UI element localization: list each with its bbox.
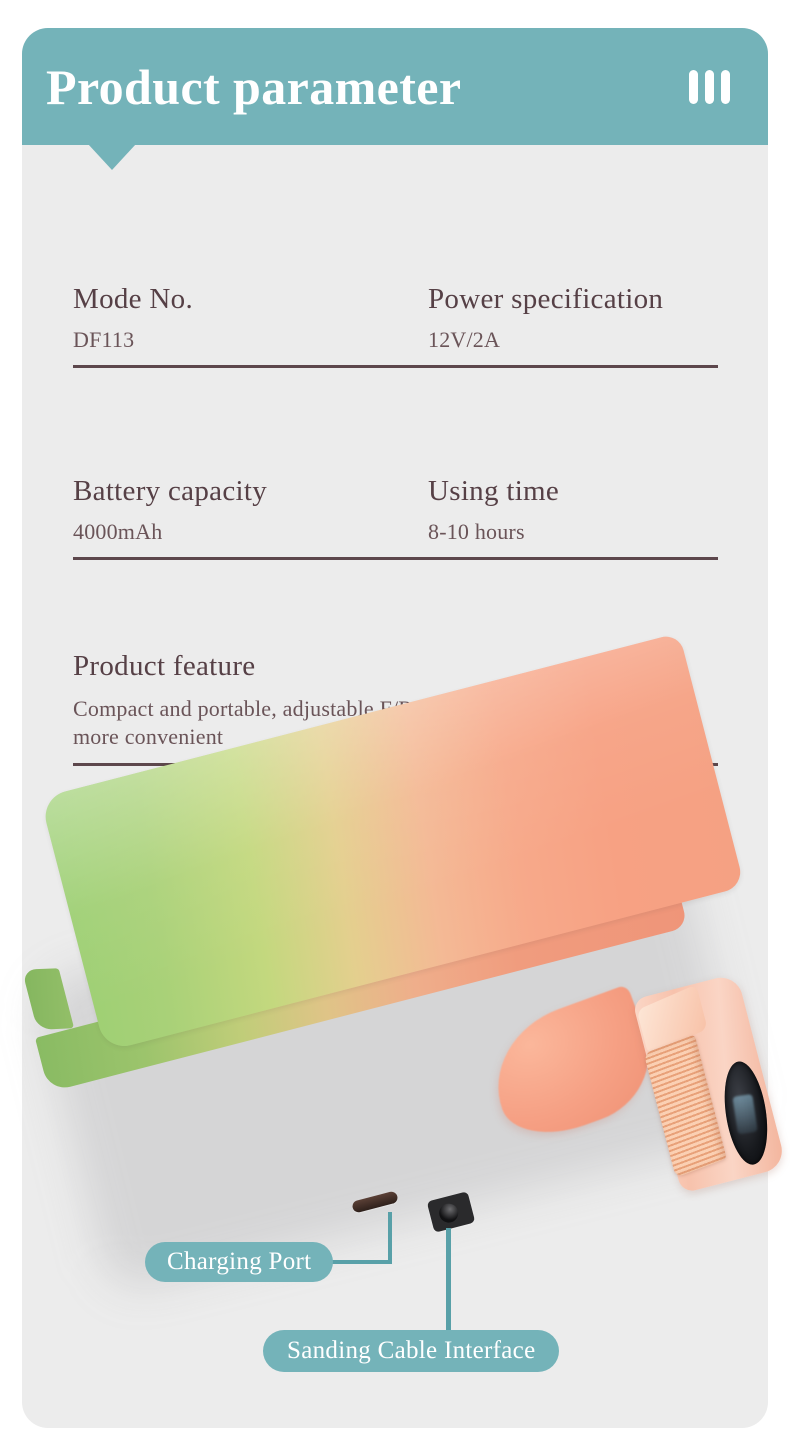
spec-row-2: Battery capacity 4000mAh Using time 8-10… <box>73 475 718 560</box>
spec-cell-battery-capacity: Battery capacity 4000mAh <box>73 475 428 545</box>
header-banner: Product parameter <box>22 28 768 145</box>
bar-2 <box>705 70 714 104</box>
sanding-cable-leader-vertical <box>446 1228 451 1332</box>
spec-value-battery-capacity: 4000mAh <box>73 519 428 545</box>
charging-port-leader-vertical <box>388 1212 392 1264</box>
callout-charging-port: Charging Port <box>145 1242 333 1282</box>
divider-rule-1 <box>73 365 718 368</box>
spec-cell-mode-no: Mode No. DF113 <box>73 283 428 353</box>
spec-value-power-specification: 12V/2A <box>428 327 718 353</box>
spec-label-power-specification: Power specification <box>428 283 718 316</box>
spec-value-mode-no: DF113 <box>73 327 428 353</box>
spec-row-1: Mode No. DF113 Power specification 12V/2… <box>73 283 718 368</box>
three-bars-icon <box>689 70 730 104</box>
spec-label-battery-capacity: Battery capacity <box>73 475 428 508</box>
bar-3 <box>721 70 730 104</box>
spec-cell-power-specification: Power specification 12V/2A <box>428 283 718 353</box>
bar-1 <box>689 70 698 104</box>
spec-label-using-time: Using time <box>428 475 718 508</box>
spec-label-mode-no: Mode No. <box>73 283 428 316</box>
divider-rule-2 <box>73 557 718 560</box>
page-title: Product parameter <box>46 62 461 112</box>
product-photo <box>22 780 768 1340</box>
device-head-assembly <box>632 967 790 1203</box>
callout-sanding-cable-interface: Sanding Cable Interface <box>263 1330 559 1372</box>
charging-port-leader-horizontal <box>328 1260 392 1264</box>
spec-cell-using-time: Using time 8-10 hours <box>428 475 718 545</box>
spec-value-using-time: 8-10 hours <box>428 519 718 545</box>
banner-tail-pointer <box>88 144 136 170</box>
